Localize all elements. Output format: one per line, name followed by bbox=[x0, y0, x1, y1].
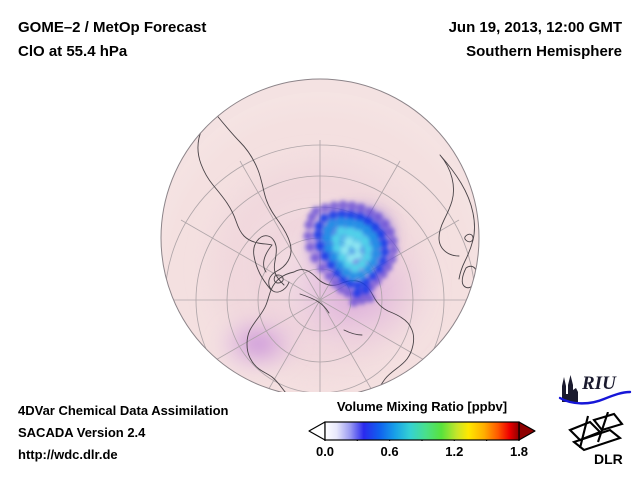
website-url[interactable]: http://wdc.dlr.de bbox=[18, 444, 308, 466]
colorbar-tick-labels: 0.0 0.6 1.2 1.8 bbox=[308, 444, 536, 462]
globe-map bbox=[0, 72, 640, 392]
header-left: GOME–2 / MetOp Forecast ClO at 55.4 hPa bbox=[18, 16, 318, 64]
colorbar-gradient bbox=[325, 422, 519, 440]
colorbar-tick-1: 0.6 bbox=[381, 444, 399, 459]
riu-logo-svg: RIU bbox=[556, 372, 636, 406]
colorbar-tick-3: 1.8 bbox=[510, 444, 528, 459]
hemisphere-label: Southern Hemisphere bbox=[292, 40, 622, 64]
dlr-logo-svg: DLR bbox=[564, 412, 636, 468]
colorbar-title: Volume Mixing Ratio [ppbv] bbox=[308, 398, 536, 416]
instrument-title: GOME–2 / MetOp Forecast bbox=[18, 16, 318, 40]
colorbar: Volume Mixing Ratio [ppbv] bbox=[308, 398, 536, 462]
dlr-logo: DLR bbox=[564, 412, 636, 468]
colorbar-extend-high-arrow bbox=[519, 422, 535, 440]
version-label: SACADA Version 2.4 bbox=[18, 422, 308, 444]
header-right: Jun 19, 2013, 12:00 GMT Southern Hemisph… bbox=[292, 16, 622, 64]
dlr-mark-icon bbox=[570, 412, 622, 450]
riu-wordmark: RIU bbox=[581, 373, 617, 394]
dlr-wordmark: DLR bbox=[594, 451, 623, 467]
method-label: 4DVar Chemical Data Assimilation bbox=[18, 400, 308, 422]
colorbar-svg bbox=[308, 421, 536, 441]
orthographic-globe-svg bbox=[0, 72, 640, 392]
colorbar-gradient-wrap bbox=[308, 421, 536, 441]
footer-left: 4DVar Chemical Data Assimilation SACADA … bbox=[18, 400, 308, 466]
datetime-label: Jun 19, 2013, 12:00 GMT bbox=[292, 16, 622, 40]
colorbar-extend-low-arrow bbox=[309, 422, 325, 440]
cathedral-icon bbox=[562, 375, 578, 402]
species-level-title: ClO at 55.4 hPa bbox=[18, 40, 318, 64]
colorbar-tick-2: 1.2 bbox=[445, 444, 463, 459]
riu-logo: RIU bbox=[556, 372, 636, 406]
colorbar-tick-0: 0.0 bbox=[316, 444, 334, 459]
